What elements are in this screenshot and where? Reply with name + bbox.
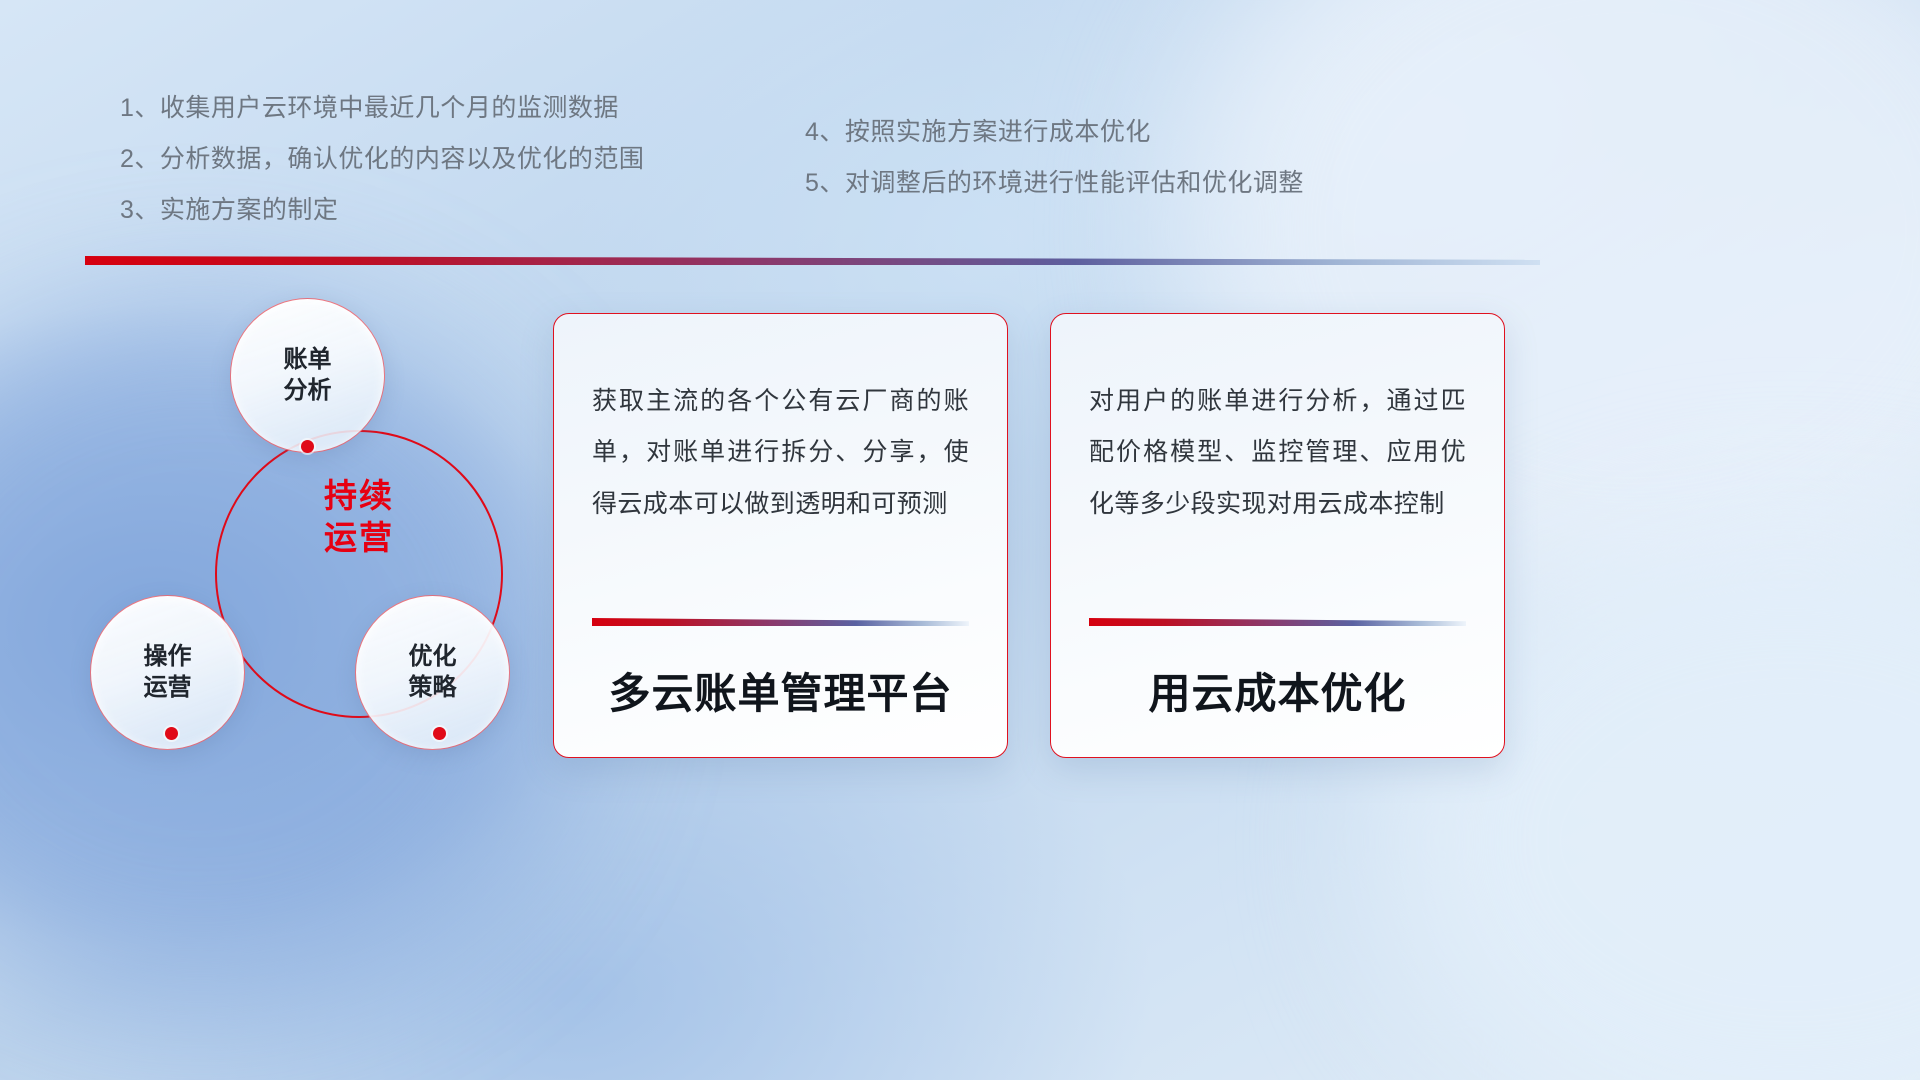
node-dot-left-icon xyxy=(165,727,178,740)
center-label-line-2: 运营 xyxy=(215,517,503,559)
bubble-optimization-strategy-line-1: 优化 xyxy=(409,642,457,673)
node-dot-top-icon xyxy=(301,440,314,453)
step-item-3: 3、实施方案的制定 xyxy=(120,198,820,223)
card-divider-rule xyxy=(1089,618,1466,626)
diagram-center-label: 持续 运营 xyxy=(215,475,503,559)
bubble-optimization-strategy-line-2: 策略 xyxy=(409,673,457,704)
step-item-5: 5、对调整后的环境进行性能评估和优化调整 xyxy=(805,171,1465,196)
continuous-operation-diagram: 持续 运营 账单 分析 操作 运营 优化 策略 xyxy=(60,290,560,780)
step-item-1: 1、收集用户云环境中最近几个月的监测数据 xyxy=(120,96,820,121)
bubble-bill-analysis-line-1: 账单 xyxy=(284,345,332,376)
center-label-line-1: 持续 xyxy=(215,475,503,517)
card-multi-cloud-billing[interactable]: 获取主流的各个公有云厂商的账单，对账单进行拆分、分享，使得云成本可以做到透明和可… xyxy=(553,313,1008,758)
bubble-optimization-strategy[interactable]: 优化 策略 xyxy=(355,595,510,750)
bubble-operations-line-2: 运营 xyxy=(144,673,192,704)
card-multi-cloud-billing-title: 多云账单管理平台 xyxy=(592,660,969,721)
step-item-4: 4、按照实施方案进行成本优化 xyxy=(805,120,1465,145)
step-item-2: 2、分析数据，确认优化的内容以及优化的范围 xyxy=(120,147,820,172)
steps-list-left: 1、收集用户云环境中最近几个月的监测数据 2、分析数据，确认优化的内容以及优化的… xyxy=(120,96,820,249)
card-multi-cloud-billing-body: 获取主流的各个公有云厂商的账单，对账单进行拆分、分享，使得云成本可以做到透明和可… xyxy=(592,376,969,530)
bubble-operations-line-1: 操作 xyxy=(144,642,192,673)
card-cloud-cost-optimization-body: 对用户的账单进行分析，通过匹配价格模型、监控管理、应用优化等多少段实现对用云成本… xyxy=(1089,376,1466,530)
card-cloud-cost-optimization[interactable]: 对用户的账单进行分析，通过匹配价格模型、监控管理、应用优化等多少段实现对用云成本… xyxy=(1050,313,1505,758)
bubble-bill-analysis-line-2: 分析 xyxy=(284,376,332,407)
card-divider-rule xyxy=(592,618,969,626)
feature-cards: 获取主流的各个公有云厂商的账单，对账单进行拆分、分享，使得云成本可以做到透明和可… xyxy=(553,313,1505,758)
node-dot-right-icon xyxy=(433,727,446,740)
steps-list-right: 4、按照实施方案进行成本优化 5、对调整后的环境进行性能评估和优化调整 xyxy=(805,120,1465,222)
card-cloud-cost-optimization-title: 用云成本优化 xyxy=(1089,660,1466,721)
bubble-bill-analysis[interactable]: 账单 分析 xyxy=(230,298,385,453)
